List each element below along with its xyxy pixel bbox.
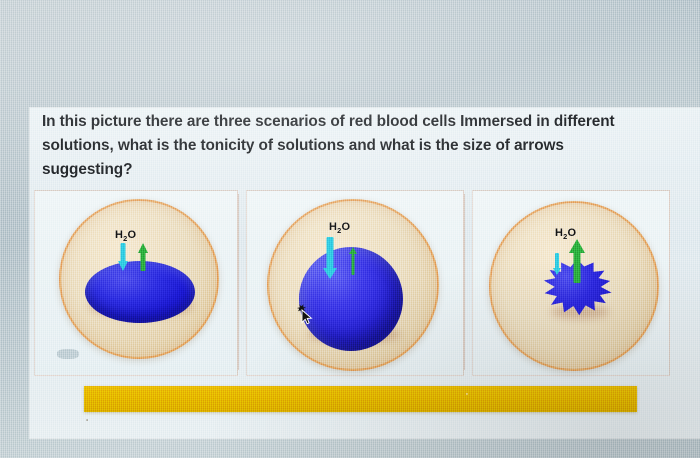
panel-isotonic: H2O xyxy=(34,190,238,376)
water-in-arrow-isotonic xyxy=(117,243,128,271)
solution-circle-hypotonic: H2O xyxy=(267,199,439,371)
h2o-post: O xyxy=(128,229,137,241)
water-out-arrow-isotonic xyxy=(137,243,148,271)
arrow-pointer-with-sparkle-icon xyxy=(295,303,319,327)
panel-divider-1 xyxy=(238,194,239,370)
h2o-pre: H xyxy=(115,229,123,241)
h2o-label-hypertonic: H2O xyxy=(555,227,576,241)
cell-scenarios-row: H2O H2O xyxy=(34,190,668,374)
h2o-label-hypotonic: H2O xyxy=(329,221,350,235)
h2o-pre: H xyxy=(329,221,337,233)
question-text: In this picture there are three scenario… xyxy=(42,110,687,182)
h2o-label-isotonic: H2O xyxy=(115,229,136,243)
water-in-arrow-hypertonic xyxy=(553,253,561,275)
question-line-1: In this picture there are three scenario… xyxy=(42,110,687,134)
photographed-screen: In this picture there are three scenario… xyxy=(0,0,700,458)
question-line-3: suggesting? xyxy=(42,158,687,182)
h2o-post: O xyxy=(568,227,577,239)
water-out-arrow-hypertonic xyxy=(569,239,585,283)
water-in-arrow-hypotonic xyxy=(323,237,337,279)
yellow-highlight-bar xyxy=(84,386,637,412)
water-out-arrow-hypotonic xyxy=(349,247,357,275)
h2o-pre: H xyxy=(555,227,563,239)
panel-hypertonic: H2O xyxy=(472,190,670,376)
h2o-post: O xyxy=(342,221,351,233)
solution-circle-isotonic: H2O xyxy=(59,199,219,359)
solution-circle-hypertonic: H2O xyxy=(489,201,659,371)
panel-hypotonic: H2O xyxy=(246,190,464,376)
panel-divider-2 xyxy=(464,194,465,370)
question-line-2: solutions, what is the tonicity of solut… xyxy=(42,134,687,158)
